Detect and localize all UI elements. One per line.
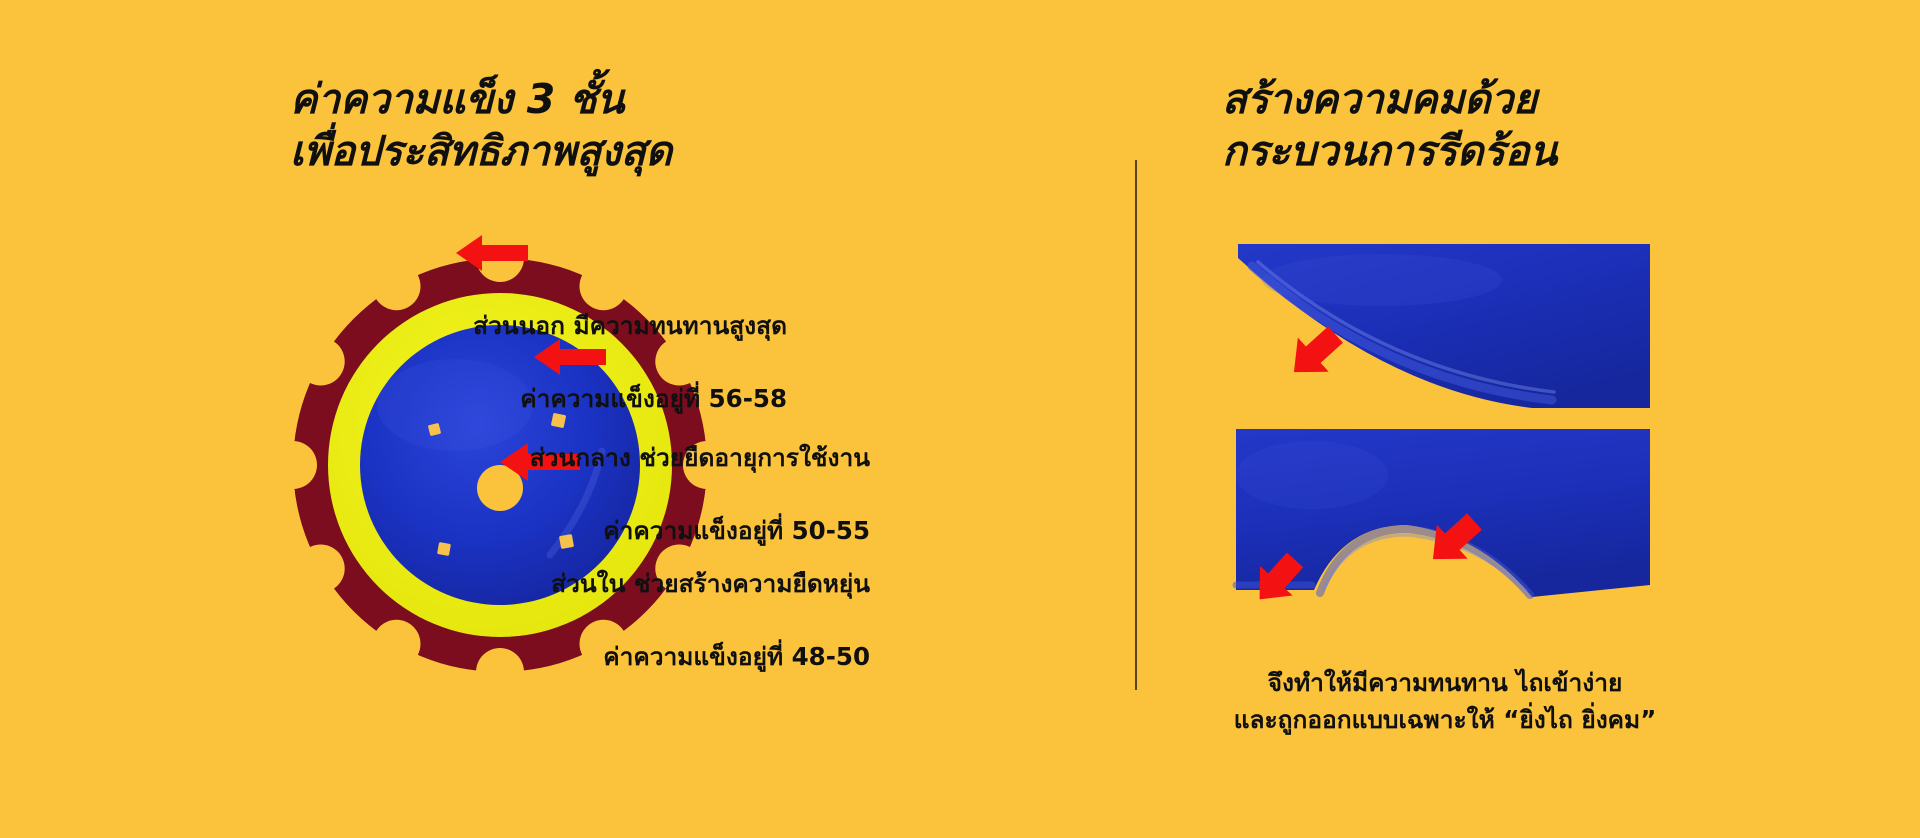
annotation-inner-line2: ค่าความแข็งอยู่ที่ 48-50: [551, 639, 870, 675]
arrow-blade-edge: [1283, 325, 1345, 383]
arrow-blade-notch-left: [1248, 552, 1306, 608]
left-panel-heading: ค่าความแข็ง 3 ชั้น เพื่อประสิทธิภาพสูงสุ…: [290, 73, 672, 177]
arrow-outer-zone: [456, 233, 528, 273]
annotation-outer-line1: ส่วนนอก มีความทนทานสูงสุด: [473, 308, 787, 344]
column-divider: [1135, 160, 1137, 690]
annotation-inner-line1: ส่วนใน ช่วยสร้างความยืดหยุ่น: [551, 566, 870, 602]
disc-square-hole: [437, 542, 451, 556]
infographic-root: ค่าความแข็ง 3 ชั้น เพื่อประสิทธิภาพสูงสุ…: [0, 0, 1920, 838]
right-panel-heading: สร้างความคมด้วย กระบวนการรีดร้อน: [1222, 73, 1557, 177]
annotation-inner-zone: ส่วนใน ช่วยสร้างความยืดหยุ่น ค่าความแข็ง…: [551, 530, 870, 711]
annotation-middle-line1: ส่วนกลาง ช่วยยืดอายุการใช้งาน: [530, 440, 870, 476]
arrow-blade-notch-right: [1422, 512, 1484, 570]
right-panel-caption: จึงทำให้มีความทนทาน ไถเข้าง่าย และถูกออก…: [1180, 665, 1710, 739]
